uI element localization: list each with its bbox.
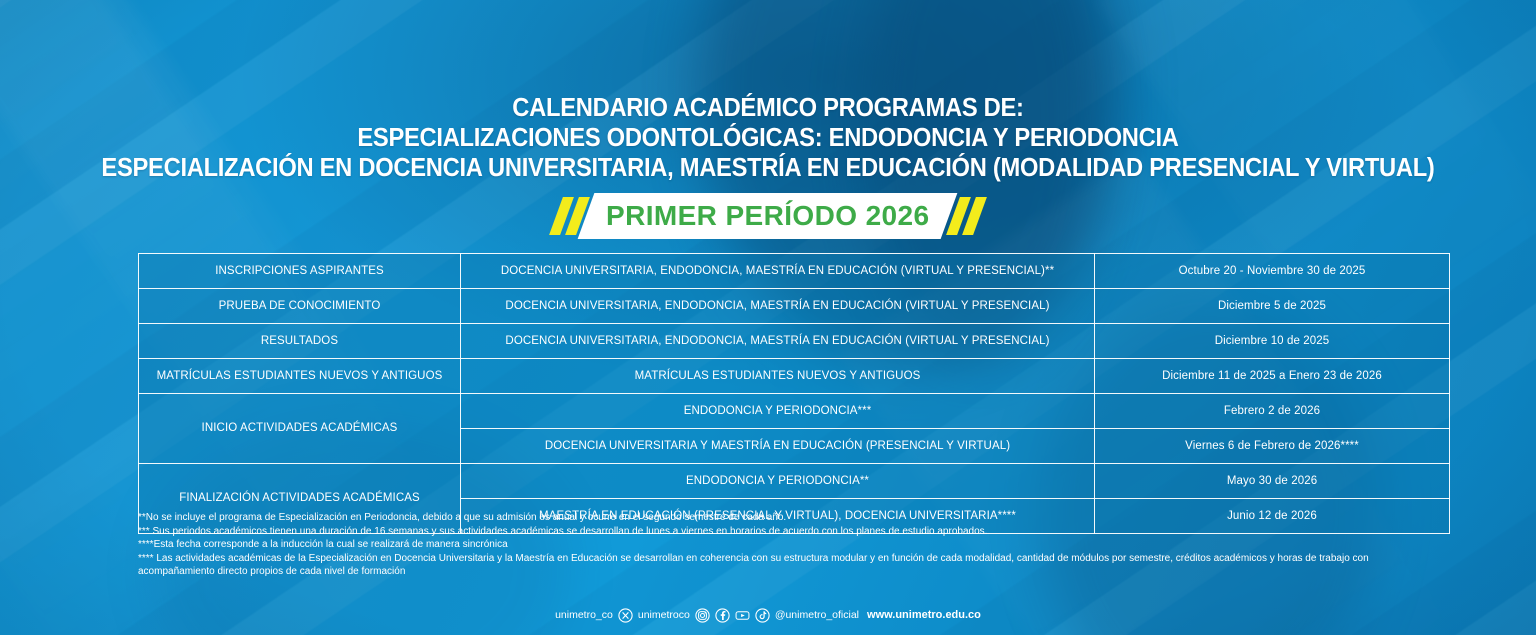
date-cell: Febrero 2 de 2026: [1095, 394, 1450, 429]
program-cell: MATRÍCULAS ESTUDIANTES NUEVOS Y ANTIGUOS: [461, 359, 1095, 394]
table-row: INSCRIPCIONES ASPIRANTES DOCENCIA UNIVER…: [139, 254, 1450, 289]
table-row: RESULTADOS DOCENCIA UNIVERSITARIA, ENDOD…: [139, 324, 1450, 359]
table-row: MATRÍCULAS ESTUDIANTES NUEVOS Y ANTIGUOS…: [139, 359, 1450, 394]
twitter-x-icon[interactable]: [618, 608, 633, 623]
date-cell: Octubre 20 - Noviembre 30 de 2025: [1095, 254, 1450, 289]
date-cell: Mayo 30 de 2026: [1095, 464, 1450, 499]
program-cell: ENDODONCIA Y PERIODONCIA**: [461, 464, 1095, 499]
program-cell: DOCENCIA UNIVERSITARIA, ENDODONCIA, MAES…: [461, 324, 1095, 359]
date-cell: Diciembre 5 de 2025: [1095, 289, 1450, 324]
instagram-handle: unimetroco: [638, 609, 690, 621]
activity-cell: INICIO ACTIVIDADES ACADÉMICAS: [139, 394, 461, 464]
calendar-poster: CALENDARIO ACADÉMICO PROGRAMAS DE: ESPEC…: [0, 0, 1536, 635]
calendar-table: INSCRIPCIONES ASPIRANTES DOCENCIA UNIVER…: [138, 253, 1450, 534]
program-cell: DOCENCIA UNIVERSITARIA, ENDODONCIA, MAES…: [461, 289, 1095, 324]
footnote: ****Esta fecha corresponde a la inducció…: [138, 538, 1402, 552]
footnote: *** Sus periodos académicos tienen una d…: [138, 525, 1402, 539]
youtube-icon[interactable]: [735, 608, 750, 623]
activity-cell: INSCRIPCIONES ASPIRANTES: [139, 254, 461, 289]
table-row: INICIO ACTIVIDADES ACADÉMICAS ENDODONCIA…: [139, 394, 1450, 429]
tiktok-handle: @unimetro_oficial: [775, 609, 859, 621]
title-line-1: CALENDARIO ACADÉMICO PROGRAMAS DE:: [54, 93, 1482, 123]
footnote: **** Las actividades académicas de la Es…: [138, 552, 1402, 579]
calendar-table-body: INSCRIPCIONES ASPIRANTES DOCENCIA UNIVER…: [139, 254, 1450, 534]
poster-header: CALENDARIO ACADÉMICO PROGRAMAS DE: ESPEC…: [0, 93, 1536, 183]
activity-cell: MATRÍCULAS ESTUDIANTES NUEVOS Y ANTIGUOS: [139, 359, 461, 394]
footnotes: **No se incluye el programa de Especiali…: [138, 511, 1402, 579]
title-line-3: ESPECIALIZACIÓN EN DOCENCIA UNIVERSITARI…: [54, 153, 1482, 183]
date-cell: Diciembre 11 de 2025 a Enero 23 de 2026: [1095, 359, 1450, 394]
left-slashes: [556, 196, 583, 236]
period-label: PRIMER PERÍODO 2026: [606, 200, 929, 232]
facebook-icon[interactable]: [715, 608, 730, 623]
date-cell: Diciembre 10 de 2025: [1095, 324, 1450, 359]
footnote: **No se incluye el programa de Especiali…: [138, 511, 1402, 525]
website-url[interactable]: www.unimetro.edu.co: [867, 609, 981, 621]
date-cell: Viernes 6 de Febrero de 2026****: [1095, 429, 1450, 464]
activity-cell: PRUEBA DE CONOCIMIENTO: [139, 289, 461, 324]
program-cell: DOCENCIA UNIVERSITARIA, ENDODONCIA, MAES…: [461, 254, 1095, 289]
program-cell: ENDODONCIA Y PERIODONCIA***: [461, 394, 1095, 429]
social-footer: unimetro_co unimetroco: [0, 604, 1536, 626]
tiktok-icon[interactable]: [755, 608, 770, 623]
instagram-icon[interactable]: [695, 608, 710, 623]
title-line-2: ESPECIALIZACIONES ODONTOLÓGICAS: ENDODON…: [54, 123, 1482, 153]
table-row: FINALIZACIÓN ACTIVIDADES ACADÉMICAS ENDO…: [139, 464, 1450, 499]
period-plate: PRIMER PERÍODO 2026: [578, 193, 958, 239]
table-row: PRUEBA DE CONOCIMIENTO DOCENCIA UNIVERSI…: [139, 289, 1450, 324]
period-banner: PRIMER PERÍODO 2026: [0, 192, 1536, 240]
program-cell: DOCENCIA UNIVERSITARIA Y MAESTRÍA EN EDU…: [461, 429, 1095, 464]
activity-cell: RESULTADOS: [139, 324, 461, 359]
twitter-handle: unimetro_co: [555, 609, 613, 621]
right-slashes: [953, 196, 980, 236]
